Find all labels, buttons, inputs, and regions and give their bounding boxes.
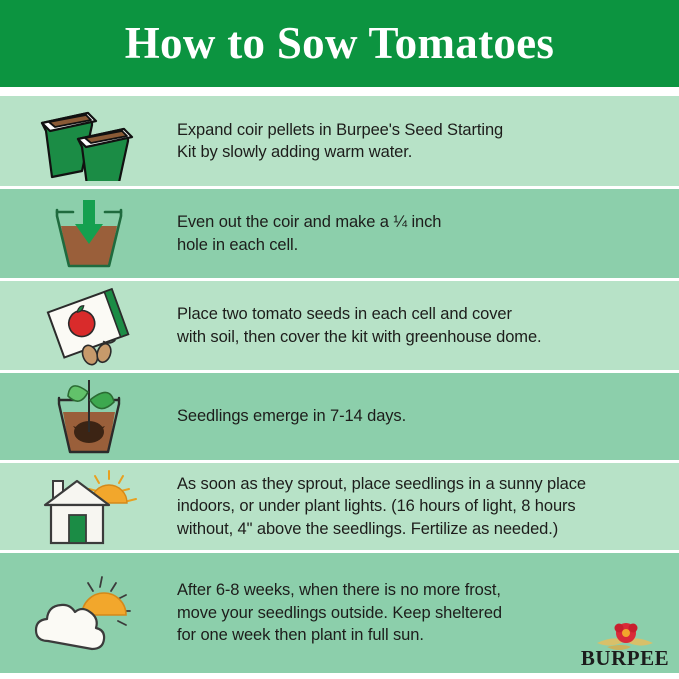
infographic-root: How to Sow Tomatoes Expand coir pellets … bbox=[0, 0, 679, 679]
step-row-6: After 6-8 weeks, when there is no more f… bbox=[0, 553, 679, 673]
seedling-in-pot-icon bbox=[39, 374, 139, 460]
header-banner: How to Sow Tomatoes bbox=[0, 0, 679, 87]
step-5-text: As soon as they sprout, place seedlings … bbox=[177, 473, 679, 541]
step-row-5: As soon as they sprout, place seedlings … bbox=[0, 463, 679, 553]
step-5-icon-cell bbox=[0, 465, 177, 549]
step-row-2: Even out the coir and make a ¼ inch hole… bbox=[0, 189, 679, 281]
page-title: How to Sow Tomatoes bbox=[125, 21, 555, 66]
step-row-3: Place two tomato seeds in each cell and … bbox=[0, 281, 679, 373]
seed-packet-icon bbox=[34, 285, 144, 367]
step-3-icon-cell bbox=[0, 285, 177, 367]
step-2-icon-cell bbox=[0, 194, 177, 274]
house-with-sun-icon bbox=[33, 465, 145, 549]
step-row-4: Seedlings emerge in 7-14 days. bbox=[0, 373, 679, 463]
pot-with-down-arrow-icon bbox=[39, 194, 139, 274]
header-separator bbox=[0, 87, 679, 96]
step-4-text: Seedlings emerge in 7-14 days. bbox=[177, 405, 679, 428]
step-1-text: Expand coir pellets in Burpee's Seed Sta… bbox=[177, 119, 679, 164]
step-4-icon-cell bbox=[0, 374, 177, 460]
seed-cell-tray-icon bbox=[30, 101, 148, 181]
step-1-icon-cell bbox=[0, 101, 177, 181]
burpee-logo-mark: BURPEE bbox=[577, 615, 673, 671]
cloud-with-sun-icon bbox=[30, 575, 148, 651]
step-3-text: Place two tomato seeds in each cell and … bbox=[177, 303, 679, 348]
step-row-1: Expand coir pellets in Burpee's Seed Sta… bbox=[0, 96, 679, 189]
step-2-text: Even out the coir and make a ¼ inch hole… bbox=[177, 211, 679, 256]
burpee-wordmark: BURPEE bbox=[581, 646, 669, 670]
step-6-icon-cell bbox=[0, 575, 177, 651]
burpee-logo[interactable]: BURPEE BURPEE bbox=[577, 615, 673, 671]
steps-list: Expand coir pellets in Burpee's Seed Sta… bbox=[0, 96, 679, 679]
